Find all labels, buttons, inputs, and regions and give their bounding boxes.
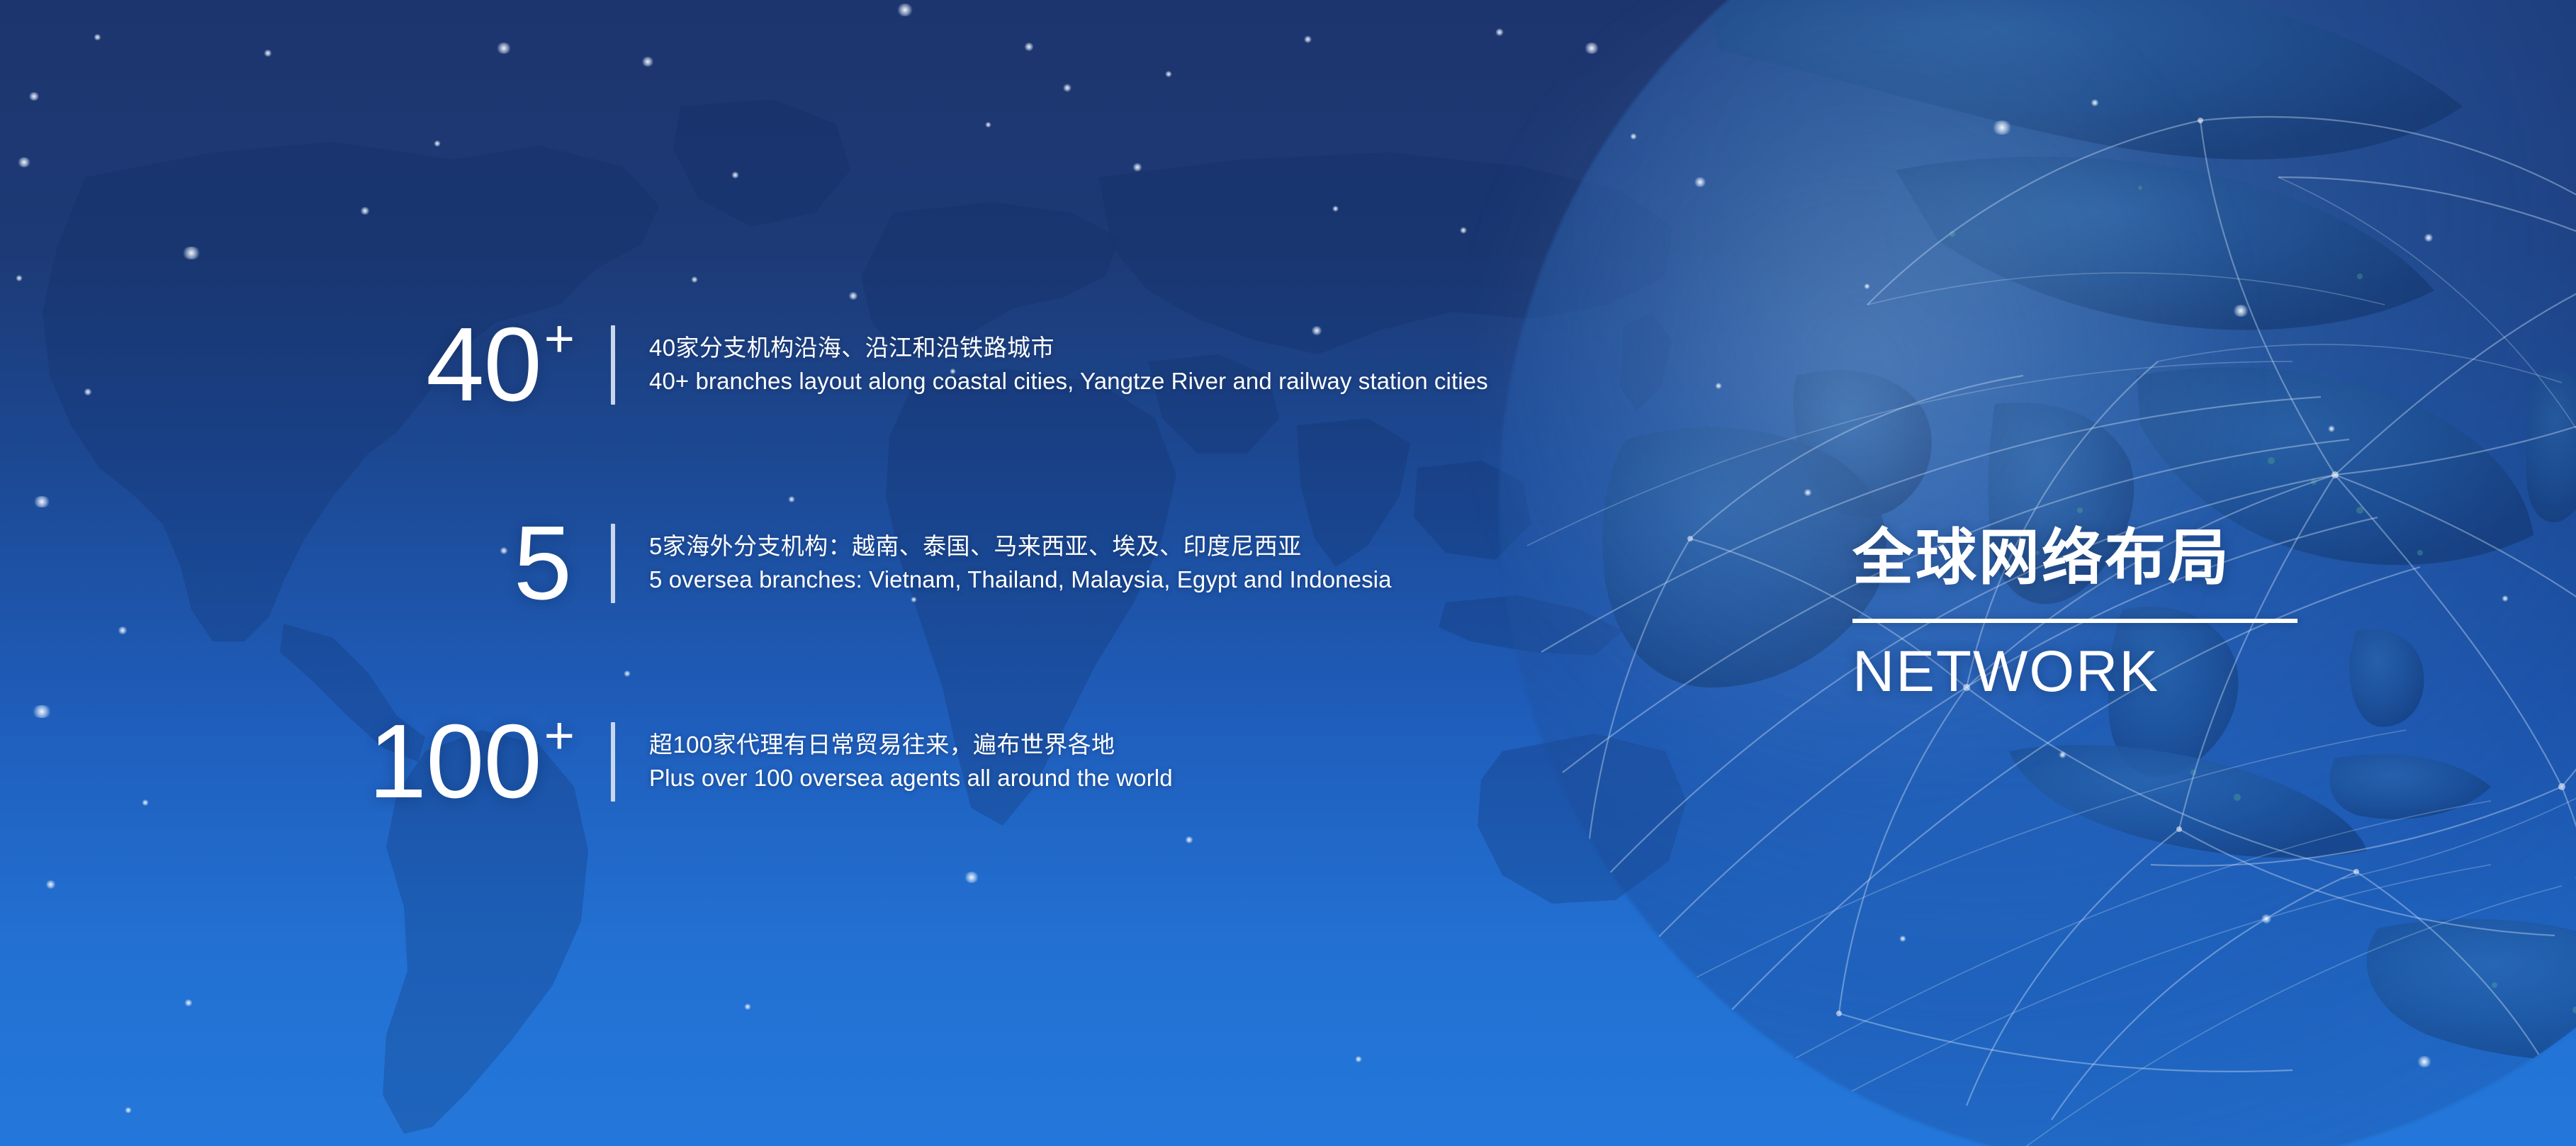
- stat-value: 5: [514, 505, 571, 622]
- stat-row: 40+ 40家分支机构沿海、沿江和沿铁路城市 40+ branches layo…: [0, 298, 1701, 432]
- title-rule: [1852, 619, 2297, 623]
- stat-text-cn: 超100家代理有日常贸易往来，遍布世界各地: [649, 729, 1173, 762]
- stat-text: 超100家代理有日常贸易往来，遍布世界各地 Plus over 100 over…: [649, 729, 1173, 795]
- stat-divider: [611, 722, 615, 802]
- stat-suffix: +: [544, 706, 574, 765]
- stat-number: 40+: [0, 313, 574, 417]
- stat-text-cn: 40家分支机构沿海、沿江和沿铁路城市: [649, 332, 1488, 365]
- stats-list: 40+ 40家分支机构沿海、沿江和沿铁路城市 40+ branches layo…: [0, 298, 1701, 829]
- stat-suffix: +: [544, 309, 574, 368]
- title-block: 全球网络布局 NETWORK: [1852, 527, 2306, 701]
- stat-text-en: 5 oversea branches: Vietnam, Thailand, M…: [649, 563, 1392, 597]
- stat-text-en: Plus over 100 oversea agents all around …: [649, 762, 1173, 795]
- stat-text-en: 40+ branches layout along coastal cities…: [649, 365, 1488, 398]
- global-network-banner: 40+ 40家分支机构沿海、沿江和沿铁路城市 40+ branches layo…: [0, 0, 2576, 1146]
- stat-row: 5 5家海外分支机构：越南、泰国、马来西亚、埃及、印度尼西亚 5 oversea…: [0, 496, 1701, 631]
- stat-text-cn: 5家海外分支机构：越南、泰国、马来西亚、埃及、印度尼西亚: [649, 530, 1392, 563]
- stat-number: 100+: [0, 709, 574, 814]
- stat-value: 100: [369, 703, 541, 820]
- page-title-cn: 全球网络布局: [1852, 527, 2306, 588]
- page-title-en: NETWORK: [1852, 643, 2306, 701]
- stat-value: 40: [426, 306, 541, 423]
- stat-divider: [611, 325, 615, 405]
- stat-number: 5: [0, 511, 574, 616]
- stat-text: 40家分支机构沿海、沿江和沿铁路城市 40+ branches layout a…: [649, 332, 1488, 398]
- stat-row: 100+ 超100家代理有日常贸易往来，遍布世界各地 Plus over 100…: [0, 695, 1701, 829]
- stat-text: 5家海外分支机构：越南、泰国、马来西亚、埃及、印度尼西亚 5 oversea b…: [649, 530, 1392, 597]
- stat-divider: [611, 524, 615, 603]
